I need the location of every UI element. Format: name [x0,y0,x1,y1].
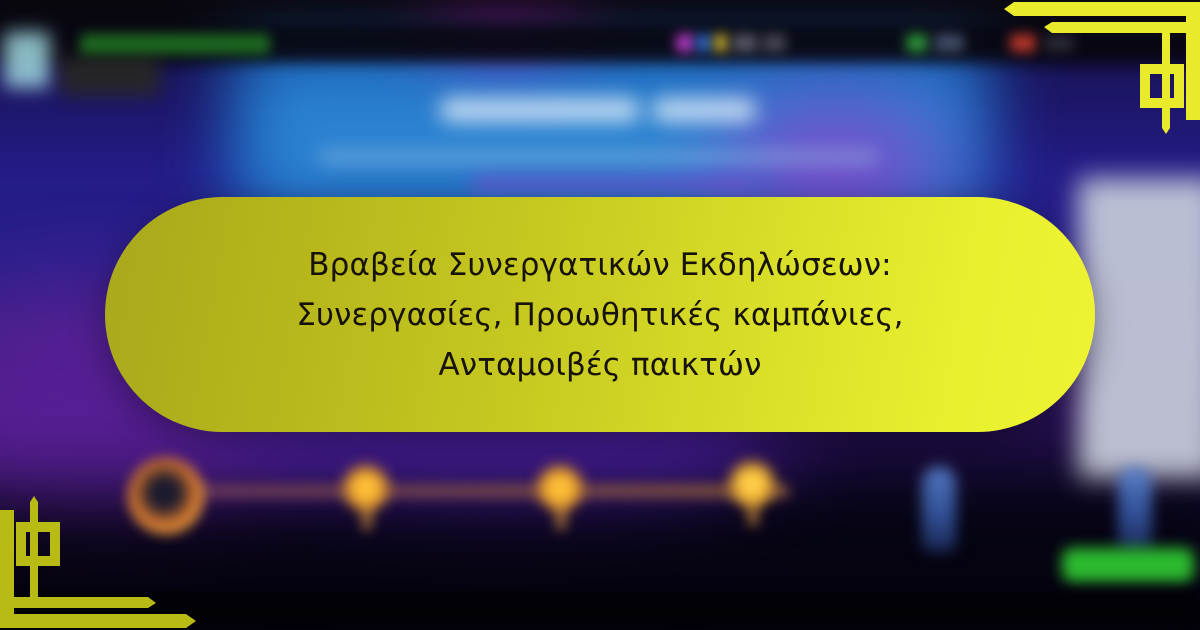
background-progress-track [150,484,790,498]
chip-grey-2 [762,34,786,52]
background-side-panel [1078,178,1200,478]
page-title: Βραβεία Συνεργατικών Εκδηλώσεων: Συνεργα… [205,240,995,390]
share-card-canvas: Βραβεία Συνεργατικών Εκδηλώσεων: Συνεργα… [0,0,1200,630]
background-headline-ghost-2 [652,98,756,122]
chip-blue [696,34,712,52]
background-avatar-right [1118,466,1152,552]
background-thumbnail-secondary [60,56,160,96]
chip-magenta [676,34,694,52]
background-cta-ghost [470,176,750,192]
background-green-bar [80,34,270,54]
headline-card: Βραβεία Συνεργατικών Εκδηλώσεων: Συνεργα… [105,197,1095,432]
chip-green [906,34,928,52]
background-track-node-3 [730,462,774,506]
background-headline-ghost [440,98,640,122]
background-subheadline-ghost [318,150,878,164]
background-avatar-left [922,466,956,552]
chip-yellow [714,34,728,52]
background-green-button [1062,548,1194,582]
background-track-node-2 [538,466,582,510]
chip-grey [732,34,758,52]
chip-slate [934,34,964,52]
background-thumbnail [4,32,50,88]
corner-bracket-top-right [990,0,1200,210]
corner-bracket-bottom-left [0,420,210,630]
background-track-node-1 [344,466,388,510]
